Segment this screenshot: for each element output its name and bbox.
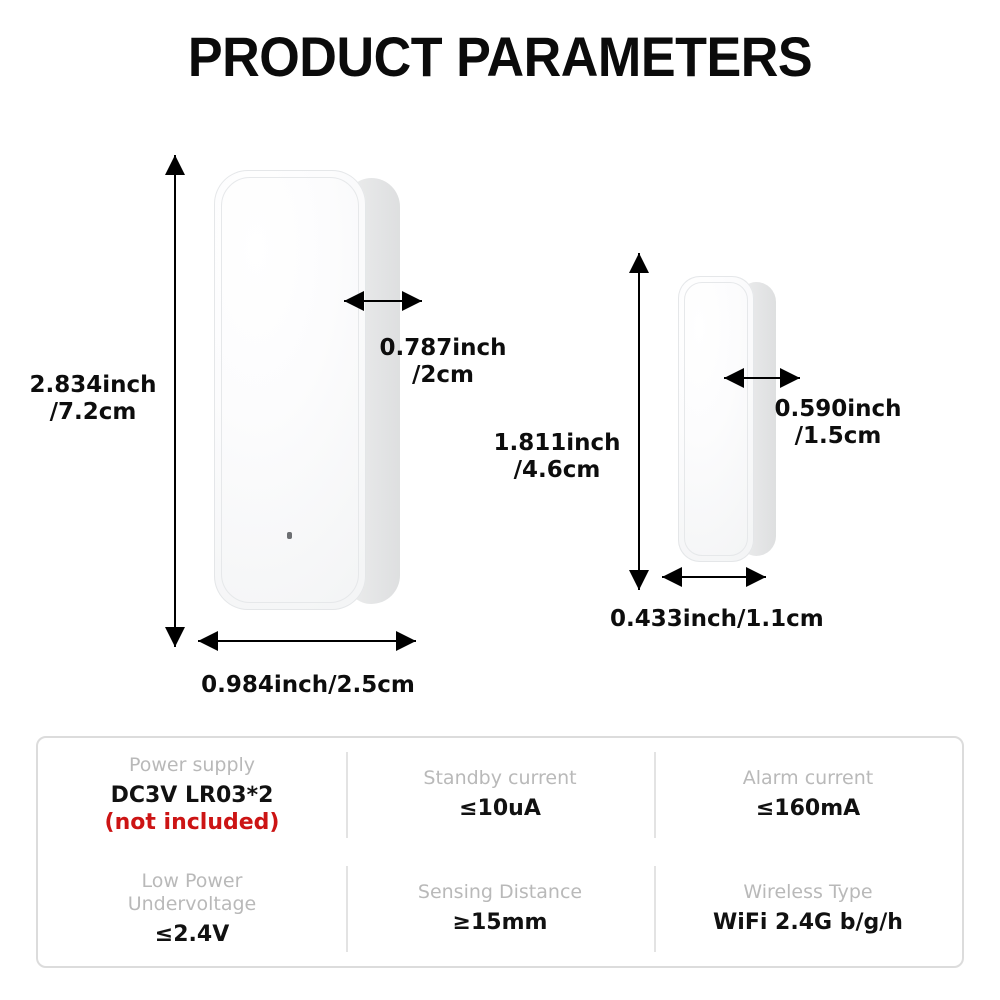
spec-cell-power-supply: Power supply DC3V LR03*2 (not included): [38, 738, 346, 852]
spec-label: Power supply: [129, 754, 255, 777]
main-sensor-depth-arrow: [344, 290, 422, 312]
main-sensor-bevel: [221, 177, 359, 603]
spec-label: Wireless Type: [743, 881, 872, 904]
page-title: PRODUCT PARAMETERS: [35, 24, 965, 89]
magnet-depth-label: 0.590inch /1.5cm: [773, 396, 903, 450]
magnet-height-arrow: [628, 253, 650, 590]
spec-row: Low Power Undervoltage ≤2.4V Sensing Dis…: [38, 852, 962, 966]
product-parameters-page: PRODUCT PARAMETERS 2.834inch /7.2cm 0.78…: [0, 0, 1000, 1000]
magnet-bevel: [684, 282, 748, 556]
main-sensor-height-arrow: [164, 155, 186, 647]
spec-cell-wireless-type: Wireless Type WiFi 2.4G b/g/h: [654, 852, 962, 966]
spec-cell-low-power-undervoltage: Low Power Undervoltage ≤2.4V: [38, 852, 346, 966]
main-sensor-depth-label: 0.787inch /2cm: [378, 335, 508, 389]
magnet-width-label: 0.433inch/1.1cm: [610, 606, 820, 633]
magnet-height-label: 1.811inch /4.6cm: [492, 430, 622, 484]
spec-cell-standby-current: Standby current ≤10uA: [346, 738, 654, 852]
spec-label: Low Power Undervoltage: [128, 870, 257, 916]
specification-table: Power supply DC3V LR03*2 (not included) …: [36, 736, 964, 968]
magnet-depth-arrow: [724, 367, 800, 389]
spec-value: WiFi 2.4G b/g/h: [713, 910, 903, 936]
spec-cell-sensing-distance: Sensing Distance ≥15mm: [346, 852, 654, 966]
spec-value: ≤2.4V: [155, 922, 229, 948]
spec-label: Standby current: [423, 767, 576, 790]
spec-row: Power supply DC3V LR03*2 (not included) …: [38, 738, 962, 852]
spec-value: ≤160mA: [756, 796, 860, 822]
spec-value: DC3V LR03*2: [111, 783, 274, 809]
main-sensor-width-arrow: [198, 630, 416, 652]
spec-value: ≥15mm: [453, 910, 548, 936]
main-sensor-width-label: 0.984inch/2.5cm: [192, 672, 424, 699]
spec-value: ≤10uA: [459, 796, 541, 822]
led-dot: [287, 532, 292, 539]
main-sensor-height-label: 2.834inch /7.2cm: [28, 372, 158, 426]
magnet-width-arrow: [662, 566, 766, 588]
main-sensor-illustration: [214, 170, 400, 616]
spec-label: Alarm current: [743, 767, 874, 790]
magnet-illustration: [678, 276, 776, 566]
spec-cell-alarm-current: Alarm current ≤160mA: [654, 738, 962, 852]
spec-label: Sensing Distance: [418, 881, 582, 904]
spec-note: (not included): [105, 810, 280, 836]
